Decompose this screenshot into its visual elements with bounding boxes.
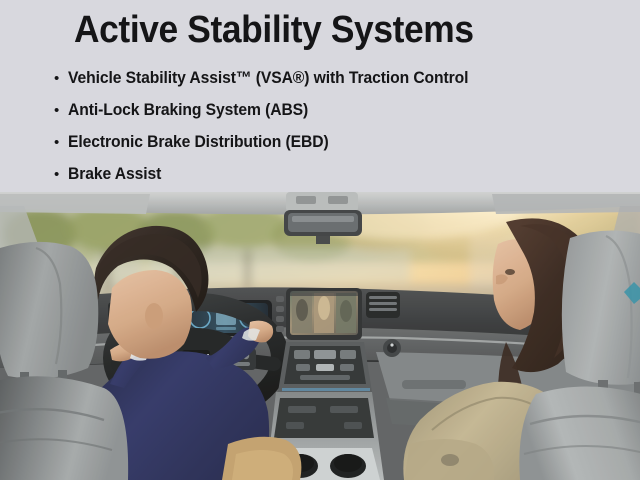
list-item: • Anti-Lock Braking System (ABS) bbox=[54, 94, 634, 126]
bullet-dot-icon: • bbox=[54, 167, 68, 182]
slide: Active Stability Systems • Vehicle Stabi… bbox=[0, 0, 640, 480]
list-item: • Vehicle Stability Assist™ (VSA®) with … bbox=[54, 62, 634, 94]
page-title: Active Stability Systems bbox=[74, 8, 474, 52]
list-item-label: Anti-Lock Braking System (ABS) bbox=[68, 100, 308, 120]
photo-light-wash bbox=[0, 192, 640, 480]
slide-text-block: Active Stability Systems • Vehicle Stabi… bbox=[0, 0, 640, 192]
bullet-list: • Vehicle Stability Assist™ (VSA®) with … bbox=[54, 62, 634, 190]
minivan-interior-photo bbox=[0, 192, 640, 480]
bullet-dot-icon: • bbox=[54, 71, 68, 86]
list-item: • Brake Assist bbox=[54, 158, 634, 190]
bullet-dot-icon: • bbox=[54, 135, 68, 150]
list-item-label: Vehicle Stability Assist™ (VSA®) with Tr… bbox=[68, 68, 468, 88]
minivan-interior-illustration bbox=[0, 192, 640, 480]
list-item: • Electronic Brake Distribution (EBD) bbox=[54, 126, 634, 158]
bullet-dot-icon: • bbox=[54, 103, 68, 118]
list-item-label: Electronic Brake Distribution (EBD) bbox=[68, 132, 329, 152]
list-item-label: Brake Assist bbox=[68, 164, 161, 184]
